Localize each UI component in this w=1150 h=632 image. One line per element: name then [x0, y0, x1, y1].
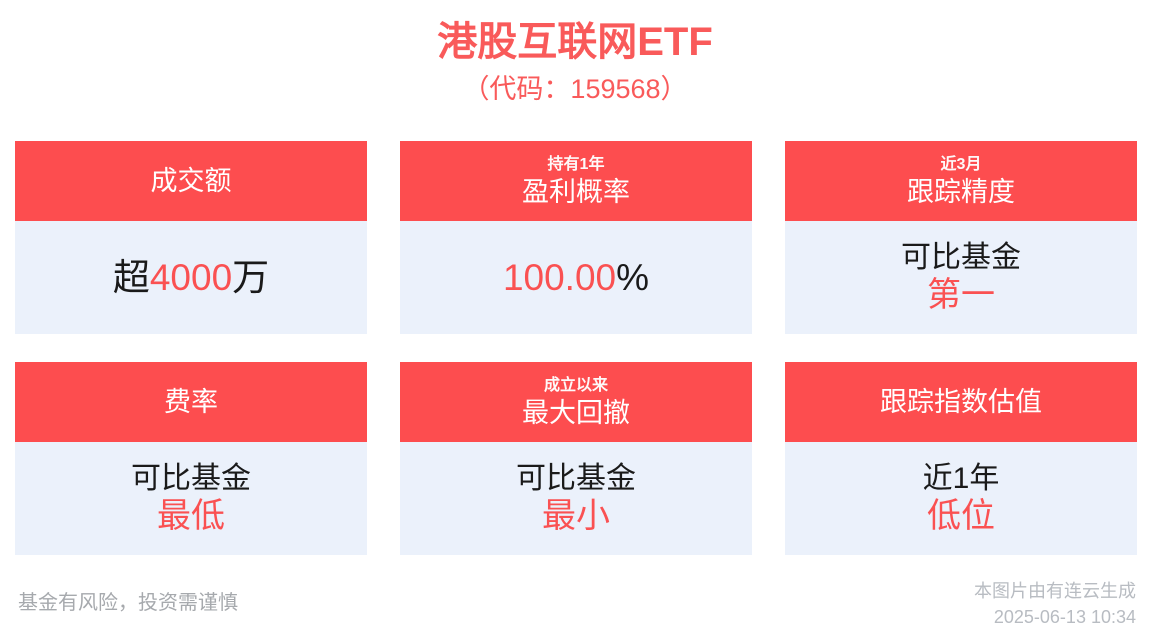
card-body: 可比基金 最低	[15, 442, 367, 555]
metric-card-turnover: 成交额 超4000万	[15, 141, 367, 334]
card-subtitle: 持有1年	[548, 155, 605, 175]
card-body: 近1年 低位	[785, 442, 1137, 555]
value-suffix: 万	[232, 257, 269, 298]
risk-disclaimer: 基金有风险，投资需谨慎	[18, 588, 238, 618]
card-value-line: 100.00%	[503, 255, 649, 301]
card-header: 近3月 跟踪精度	[785, 141, 1137, 221]
metric-card-fee-rate: 费率 可比基金 最低	[15, 362, 367, 555]
value-prefix: 超	[113, 257, 150, 298]
metric-card-grid: 成交额 超4000万 持有1年 盈利概率 100.00% 近3月 跟踪精度 可比…	[15, 141, 1136, 555]
generation-timestamp: 2025-06-13 10:34	[974, 604, 1136, 630]
card-title: 最大回撤	[522, 396, 630, 430]
card-subtitle: 近3月	[941, 155, 982, 175]
card-body: 可比基金 第一	[785, 221, 1137, 334]
card-header: 成交额	[15, 141, 367, 221]
value-highlight: 4000	[150, 257, 232, 298]
metric-card-max-drawdown: 成立以来 最大回撤 可比基金 最小	[400, 362, 752, 555]
card-title: 成交额	[151, 164, 232, 198]
card-title: 跟踪精度	[907, 175, 1015, 209]
metric-card-profit-probability: 持有1年 盈利概率 100.00%	[400, 141, 752, 334]
card-value-highlight: 最低	[157, 496, 225, 536]
card-header: 成立以来 最大回撤	[400, 362, 752, 442]
card-title: 跟踪指数估值	[880, 385, 1042, 419]
page-footer: 基金有风险，投资需谨慎 本图片由有连云生成 2025-06-13 10:34	[0, 578, 1150, 632]
etf-infographic-page: 港股互联网ETF （代码：159568） 成交额 超4000万 持有1年 盈利概…	[0, 0, 1150, 632]
metric-card-index-valuation: 跟踪指数估值 近1年 低位	[785, 362, 1137, 555]
card-value-context: 可比基金	[901, 240, 1021, 276]
page-title: 港股互联网ETF	[0, 16, 1150, 68]
card-value-context: 可比基金	[131, 461, 251, 497]
card-value-context: 可比基金	[516, 461, 636, 497]
card-header: 跟踪指数估值	[785, 362, 1137, 442]
card-body: 100.00%	[400, 221, 752, 334]
card-body: 可比基金 最小	[400, 442, 752, 555]
value-suffix: %	[616, 257, 649, 298]
page-header: 港股互联网ETF （代码：159568）	[0, 0, 1150, 106]
card-header: 费率	[15, 362, 367, 442]
card-value-highlight: 低位	[927, 496, 995, 536]
card-subtitle: 成立以来	[544, 376, 608, 396]
card-title: 盈利概率	[522, 175, 630, 209]
card-value-highlight: 最小	[542, 496, 610, 536]
card-value-highlight: 第一	[927, 275, 995, 315]
card-header: 持有1年 盈利概率	[400, 141, 752, 221]
footer-attribution: 本图片由有连云生成 2025-06-13 10:34	[974, 578, 1136, 630]
value-highlight: 100.00	[503, 257, 616, 298]
card-value-context: 近1年	[923, 461, 1000, 497]
card-value-line: 超4000万	[113, 255, 269, 301]
card-body: 超4000万	[15, 221, 367, 334]
image-source-text: 本图片由有连云生成	[974, 578, 1136, 604]
metric-card-tracking-accuracy: 近3月 跟踪精度 可比基金 第一	[785, 141, 1137, 334]
page-subtitle-fund-code: （代码：159568）	[0, 72, 1150, 106]
card-title: 费率	[164, 385, 218, 419]
